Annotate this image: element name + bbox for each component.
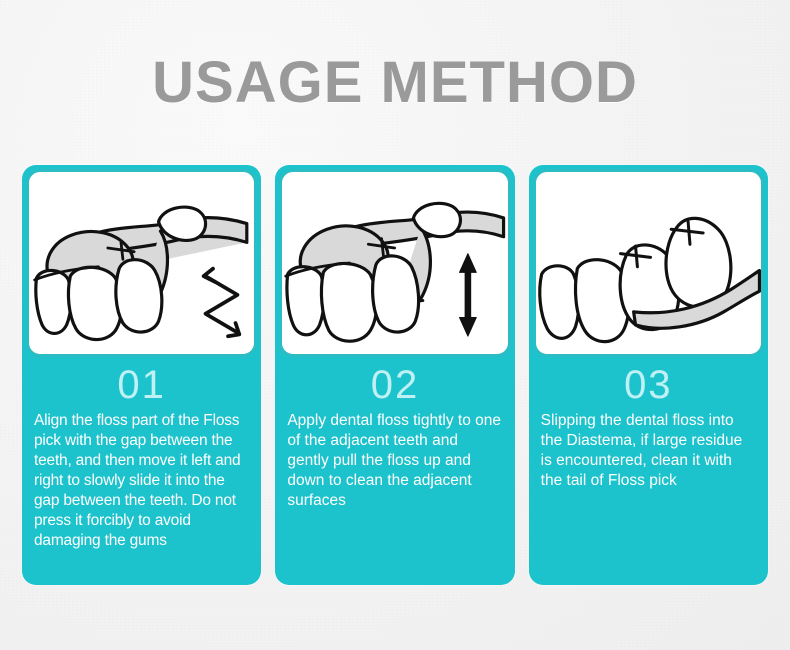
step-number-01: 01 — [22, 363, 261, 407]
illustration-panel-02 — [279, 169, 510, 357]
illustration-panel-01 — [26, 169, 257, 357]
zigzag-double-arrow-icon — [204, 269, 240, 337]
step-card-03: 03 Slipping the dental floss into the Di… — [529, 165, 768, 585]
step-card-02: 02 Apply dental floss tightly to one of … — [275, 165, 514, 585]
step-card-01: 01 Align the floss part of the Floss pic… — [22, 165, 261, 585]
step-description-01: Align the floss part of the Floss pick w… — [22, 407, 261, 563]
step-number-02: 02 — [275, 363, 514, 407]
vertical-double-arrow-icon — [460, 254, 477, 337]
page-title: USAGE METHOD — [0, 52, 790, 114]
step-description-03: Slipping the dental floss into the Diast… — [529, 407, 768, 503]
floss-pick-side-to-side-illustration — [29, 172, 254, 354]
usage-method-infographic: USAGE METHOD — [0, 0, 790, 650]
steps-card-row: 01 Align the floss part of the Floss pic… — [22, 165, 768, 585]
floss-pick-tail-diastema-illustration — [536, 172, 761, 354]
step-description-02: Apply dental floss tightly to one of the… — [275, 407, 514, 523]
floss-pick-up-and-down-illustration — [282, 172, 507, 354]
illustration-panel-03 — [533, 169, 764, 357]
step-number-03: 03 — [529, 363, 768, 407]
